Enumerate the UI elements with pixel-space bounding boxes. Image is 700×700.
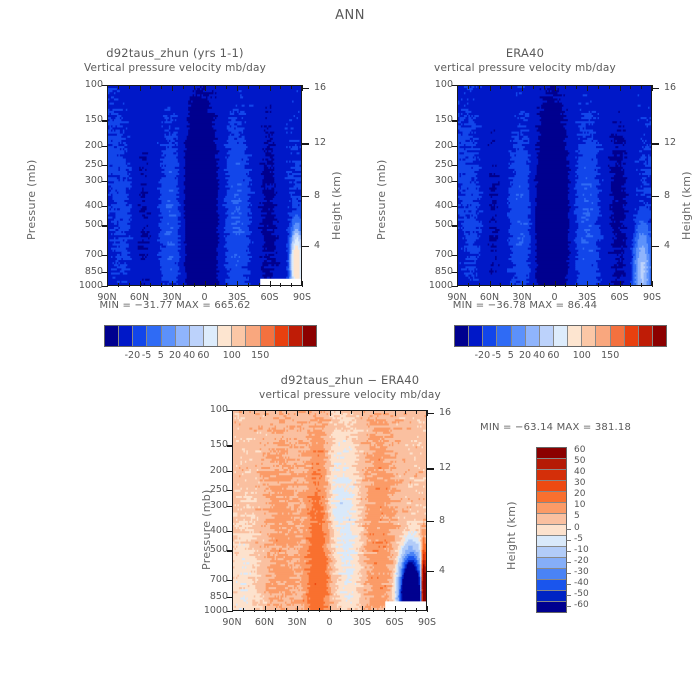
ytick-label: 400 xyxy=(61,200,103,211)
xtick xyxy=(522,85,523,91)
xtick-minor xyxy=(280,283,281,287)
colorbar-label: 10 xyxy=(574,500,585,510)
xtick xyxy=(265,606,266,612)
colorbar-swatch[interactable] xyxy=(567,326,581,346)
y2tick-label: 4 xyxy=(439,565,469,576)
panel-model-ylabel: Pressure (mb) xyxy=(25,159,38,240)
colorbar-swatch[interactable] xyxy=(610,326,624,346)
colorbar-swatch[interactable] xyxy=(203,326,217,346)
xtick xyxy=(232,606,233,612)
colorbar-swatch[interactable] xyxy=(105,326,118,346)
ytick-label: 300 xyxy=(411,175,453,186)
ytick-label: 150 xyxy=(61,114,103,125)
y2tick-label: 16 xyxy=(664,82,694,93)
xtick-minor xyxy=(373,608,374,612)
xtick xyxy=(587,85,588,91)
ytick xyxy=(102,272,108,273)
colorbar-label: -50 xyxy=(574,589,589,599)
xtick xyxy=(107,85,108,91)
ytick xyxy=(452,206,458,207)
xtick xyxy=(205,85,206,91)
colorbar-swatch[interactable] xyxy=(175,326,189,346)
xtick-minor xyxy=(194,85,195,89)
xtick-minor xyxy=(576,85,577,89)
xtick xyxy=(362,606,363,612)
xtick-minor xyxy=(351,608,352,612)
ytick xyxy=(227,445,233,446)
ytick-label: 500 xyxy=(411,219,453,230)
colorbar-swatch[interactable] xyxy=(161,326,175,346)
colorbar-tick xyxy=(566,529,571,530)
xtick-minor xyxy=(319,410,320,414)
xtick xyxy=(302,281,303,287)
colorbar-tick xyxy=(566,540,571,541)
ytick-label: 500 xyxy=(186,544,228,555)
xtick-minor xyxy=(630,283,631,287)
colorbar-label: -40 xyxy=(574,578,589,588)
ytick xyxy=(227,580,233,581)
colorbar-swatch[interactable] xyxy=(260,326,274,346)
y2tick xyxy=(427,468,434,469)
y2tick-label: 4 xyxy=(664,240,694,251)
xtick-minor xyxy=(598,283,599,287)
ytick-label: 1000 xyxy=(186,605,228,616)
xtick-minor xyxy=(351,410,352,414)
ytick-label: 200 xyxy=(411,140,453,151)
xtick xyxy=(172,281,173,287)
colorbar-label: 150 xyxy=(588,350,632,361)
xtick-minor xyxy=(259,283,260,287)
ytick-label: 300 xyxy=(186,500,228,511)
colorbar-swatch[interactable] xyxy=(595,326,609,346)
ytick-label: 200 xyxy=(61,140,103,151)
xtick-minor xyxy=(254,608,255,612)
xtick-minor xyxy=(243,608,244,612)
ytick-label: 250 xyxy=(411,159,453,170)
xtick-minor xyxy=(373,410,374,414)
y2tick xyxy=(302,143,309,144)
xtick xyxy=(457,85,458,91)
colorbar-swatch[interactable] xyxy=(217,326,231,346)
colorbar-swatch[interactable] xyxy=(537,469,566,480)
panel-model-colorbar-labels: -20-55204060100150 xyxy=(104,350,317,364)
panel-model-plot[interactable] xyxy=(107,85,302,286)
xtick-minor xyxy=(129,85,130,89)
xtick-minor xyxy=(641,283,642,287)
xtick xyxy=(232,410,233,416)
colorbar-swatch[interactable] xyxy=(496,326,510,346)
ytick-label: 200 xyxy=(186,465,228,476)
xtick-minor xyxy=(286,410,287,414)
colorbar-swatch[interactable] xyxy=(302,326,316,346)
xtick-minor xyxy=(254,410,255,414)
xtick xyxy=(140,85,141,91)
colorbar-swatch[interactable] xyxy=(537,590,566,601)
y2tick-label: 12 xyxy=(664,137,694,148)
xtick xyxy=(620,85,621,91)
ytick-label: 100 xyxy=(186,404,228,415)
xtick-minor xyxy=(468,283,469,287)
xtick-minor xyxy=(183,85,184,89)
panel-obs-title: ERA40 xyxy=(350,46,700,60)
xtick-minor xyxy=(565,283,566,287)
colorbar-swatch[interactable] xyxy=(525,326,539,346)
ytick xyxy=(102,165,108,166)
colorbar-label: 40 xyxy=(574,467,585,477)
colorbar-label: 0 xyxy=(574,523,580,533)
xtick xyxy=(237,281,238,287)
ytick-label: 300 xyxy=(61,175,103,186)
ytick xyxy=(452,120,458,121)
panel-obs-ylabel: Pressure (mb) xyxy=(375,159,388,240)
xtick xyxy=(522,281,523,287)
ytick-label: 850 xyxy=(186,591,228,602)
colorbar-swatch[interactable] xyxy=(537,448,566,458)
xtick-minor xyxy=(500,85,501,89)
xtick-minor xyxy=(275,608,276,612)
colorbar-swatch[interactable] xyxy=(652,326,666,346)
xtick xyxy=(270,85,271,91)
xtick-minor xyxy=(118,85,119,89)
ytick xyxy=(227,531,233,532)
xtick-minor xyxy=(416,410,417,414)
ytick xyxy=(452,272,458,273)
xtick-minor xyxy=(248,283,249,287)
colorbar-label: 60 xyxy=(574,445,585,455)
xtick xyxy=(302,85,303,91)
xtick-minor xyxy=(468,85,469,89)
colorbar-tick xyxy=(566,595,571,596)
panel-obs-plot[interactable] xyxy=(457,85,652,286)
xtick-minor xyxy=(340,608,341,612)
xtick xyxy=(140,281,141,287)
ytick xyxy=(452,165,458,166)
ytick-label: 250 xyxy=(61,159,103,170)
colorbar-label: 150 xyxy=(238,350,282,361)
xtick-minor xyxy=(291,283,292,287)
ytick-label: 100 xyxy=(61,79,103,90)
colorbar-label: -60 xyxy=(574,600,589,610)
colorbar-label: -20 xyxy=(574,556,589,566)
xtick-minor xyxy=(161,85,162,89)
y2tick-label: 16 xyxy=(314,82,344,93)
colorbar-swatch[interactable] xyxy=(537,513,566,524)
ytick xyxy=(102,255,108,256)
xtick-minor xyxy=(248,85,249,89)
panel-diff-y2label: Height (km) xyxy=(505,501,518,570)
xtick-minor xyxy=(194,283,195,287)
panel-model-subtitle: Vertical pressure velocity mb/day xyxy=(0,62,350,74)
panel-model-colorbar[interactable] xyxy=(104,325,317,347)
xtick xyxy=(265,410,266,416)
ytick xyxy=(452,146,458,147)
y2tick xyxy=(427,571,434,572)
colorbar-swatch[interactable] xyxy=(537,601,566,612)
xtick-minor xyxy=(641,85,642,89)
colorbar-swatch[interactable] xyxy=(468,326,482,346)
ytick-label: 850 xyxy=(61,266,103,277)
panel-diff-colorbar[interactable] xyxy=(536,447,567,613)
ytick xyxy=(102,120,108,121)
ytick-label: 850 xyxy=(411,266,453,277)
panel-model-y2label: Height (km) xyxy=(330,171,343,240)
y2tick xyxy=(427,521,434,522)
colorbar-label: 30 xyxy=(574,478,585,488)
panel-diff-title: d92taus_zhun − ERA40 xyxy=(175,373,525,387)
panel-obs-subtitle: vertical pressure velocity mb/day xyxy=(350,62,700,74)
xtick-minor xyxy=(405,608,406,612)
xtick xyxy=(555,281,556,287)
panel-model-title: d92taus_zhun (yrs 1-1) xyxy=(0,46,350,60)
xtick-minor xyxy=(479,85,480,89)
colorbar-tick xyxy=(566,606,571,607)
xtick-minor xyxy=(384,608,385,612)
colorbar-swatch[interactable] xyxy=(638,326,652,346)
xtick-minor xyxy=(340,410,341,414)
panel-diff-plot[interactable] xyxy=(232,410,427,611)
xtick-minor xyxy=(280,85,281,89)
colorbar-tick xyxy=(566,584,571,585)
xtick-minor xyxy=(384,410,385,414)
ytick-label: 150 xyxy=(186,439,228,450)
ytick-label: 500 xyxy=(61,219,103,230)
ytick xyxy=(102,225,108,226)
colorbar-label: -30 xyxy=(574,567,589,577)
xtick-minor xyxy=(150,283,151,287)
xtick-minor xyxy=(129,283,130,287)
colorbar-swatch[interactable] xyxy=(146,326,160,346)
ytick-label: 700 xyxy=(411,249,453,260)
xtick xyxy=(490,281,491,287)
ytick-label: 700 xyxy=(61,249,103,260)
colorbar-swatch[interactable] xyxy=(539,326,553,346)
colorbar-label: -5 xyxy=(574,534,583,544)
xtick-minor xyxy=(319,608,320,612)
ytick xyxy=(452,255,458,256)
xtick xyxy=(652,85,653,91)
xtick-minor xyxy=(630,85,631,89)
xtick-minor xyxy=(511,85,512,89)
colorbar-swatch[interactable] xyxy=(624,326,638,346)
ytick xyxy=(452,181,458,182)
xtick xyxy=(652,281,653,287)
ytick xyxy=(227,550,233,551)
xtick-minor xyxy=(226,85,227,89)
xtick-minor xyxy=(286,608,287,612)
ytick xyxy=(102,146,108,147)
colorbar-swatch[interactable] xyxy=(537,546,566,557)
colorbar-tick xyxy=(566,562,571,563)
y2tick-label: 12 xyxy=(314,137,344,148)
xtick-minor xyxy=(215,85,216,89)
xtick-label: 90S xyxy=(630,292,674,303)
xtick xyxy=(297,410,298,416)
colorbar-swatch[interactable] xyxy=(288,326,302,346)
y2tick-label: 8 xyxy=(664,190,694,201)
y2tick-label: 4 xyxy=(314,240,344,251)
xtick xyxy=(395,606,396,612)
xtick xyxy=(237,85,238,91)
panel-diff-subtitle: vertical pressure velocity mb/day xyxy=(175,389,525,401)
xtick xyxy=(587,281,588,287)
colorbar-swatch[interactable] xyxy=(231,326,245,346)
ytick-label: 400 xyxy=(186,525,228,536)
xtick-minor xyxy=(308,608,309,612)
colorbar-swatch[interactable] xyxy=(482,326,496,346)
colorbar-swatch[interactable] xyxy=(245,326,259,346)
ytick xyxy=(227,597,233,598)
ytick xyxy=(227,490,233,491)
y2tick-label: 12 xyxy=(439,462,469,473)
xtick xyxy=(427,606,428,612)
xtick xyxy=(107,281,108,287)
colorbar-swatch[interactable] xyxy=(537,502,566,513)
ytick xyxy=(227,506,233,507)
panel-obs: ERA40 vertical pressure velocity mb/day … xyxy=(350,0,700,380)
xtick-minor xyxy=(226,283,227,287)
xtick-minor xyxy=(243,410,244,414)
colorbar-tick xyxy=(566,551,571,552)
y2tick xyxy=(302,196,309,197)
colorbar-label: 50 xyxy=(574,456,585,466)
xtick xyxy=(555,85,556,91)
colorbar-swatch[interactable] xyxy=(537,524,566,535)
ytick-label: 150 xyxy=(411,114,453,125)
y2tick xyxy=(302,246,309,247)
xtick xyxy=(172,85,173,91)
colorbar-swatch[interactable] xyxy=(537,480,566,491)
y2tick xyxy=(652,196,659,197)
colorbar-swatch[interactable] xyxy=(274,326,288,346)
colorbar-swatch[interactable] xyxy=(189,326,203,346)
ytick-label: 400 xyxy=(411,200,453,211)
y2tick xyxy=(652,143,659,144)
xtick xyxy=(620,281,621,287)
xtick-minor xyxy=(150,85,151,89)
ytick xyxy=(102,206,108,207)
colorbar-swatch[interactable] xyxy=(537,535,566,546)
xtick-minor xyxy=(533,283,534,287)
xtick-label: 90S xyxy=(280,292,324,303)
panel-diff-colorbar-labels: 60504030201050-5-10-20-30-40-50-60 xyxy=(570,440,630,625)
y2tick xyxy=(652,246,659,247)
xtick-minor xyxy=(118,283,119,287)
colorbar-swatch[interactable] xyxy=(537,491,566,502)
colorbar-swatch[interactable] xyxy=(553,326,567,346)
ytick xyxy=(102,181,108,182)
xtick-minor xyxy=(215,283,216,287)
xtick-minor xyxy=(161,283,162,287)
colorbar-label: -10 xyxy=(574,545,589,555)
ytick-label: 1000 xyxy=(61,280,103,291)
xtick-minor xyxy=(609,283,610,287)
xtick xyxy=(395,410,396,416)
xtick xyxy=(330,410,331,416)
panel-diff: d92taus_zhun − ERA40 vertical pressure v… xyxy=(175,370,525,660)
xtick-minor xyxy=(479,283,480,287)
xtick xyxy=(330,606,331,612)
panel-obs-colorbar[interactable] xyxy=(454,325,667,347)
colorbar-swatch[interactable] xyxy=(132,326,146,346)
xtick-minor xyxy=(291,85,292,89)
ytick xyxy=(452,225,458,226)
xtick-minor xyxy=(416,608,417,612)
xtick-minor xyxy=(275,410,276,414)
ytick xyxy=(227,471,233,472)
xtick-minor xyxy=(500,283,501,287)
xtick-minor xyxy=(598,85,599,89)
colorbar-swatch[interactable] xyxy=(455,326,468,346)
xtick-minor xyxy=(259,85,260,89)
y2tick-label: 8 xyxy=(439,515,469,526)
xtick-minor xyxy=(183,283,184,287)
xtick-minor xyxy=(576,283,577,287)
panel-model: d92taus_zhun (yrs 1-1) Vertical pressure… xyxy=(0,0,350,380)
xtick xyxy=(490,85,491,91)
colorbar-tick xyxy=(566,573,571,574)
colorbar-swatch[interactable] xyxy=(511,326,525,346)
xtick-minor xyxy=(405,410,406,414)
colorbar-label: 5 xyxy=(574,511,580,521)
xtick-label: 90S xyxy=(405,617,449,628)
xtick-minor xyxy=(544,85,545,89)
ytick-label: 250 xyxy=(186,484,228,495)
xtick xyxy=(297,606,298,612)
colorbar-label: 20 xyxy=(574,489,585,499)
panel-obs-y2label: Height (km) xyxy=(680,171,693,240)
colorbar-swatch[interactable] xyxy=(537,458,566,469)
ytick-label: 1000 xyxy=(411,280,453,291)
xtick-minor xyxy=(544,283,545,287)
xtick-minor xyxy=(511,283,512,287)
y2tick-label: 8 xyxy=(314,190,344,201)
xtick xyxy=(362,410,363,416)
xtick xyxy=(205,281,206,287)
panel-obs-colorbar-labels: -20-55204060100150 xyxy=(454,350,667,364)
colorbar-swatch[interactable] xyxy=(118,326,132,346)
xtick-minor xyxy=(609,85,610,89)
xtick-minor xyxy=(533,85,534,89)
xtick-minor xyxy=(565,85,566,89)
colorbar-swatch[interactable] xyxy=(537,568,566,579)
ytick-label: 100 xyxy=(411,79,453,90)
xtick xyxy=(457,281,458,287)
y2tick-label: 16 xyxy=(439,407,469,418)
xtick xyxy=(270,281,271,287)
panel-diff-minmax: MIN = −63.14 MAX = 381.18 xyxy=(480,422,675,433)
ytick-label: 700 xyxy=(186,574,228,585)
xtick-minor xyxy=(308,410,309,414)
colorbar-swatch[interactable] xyxy=(537,579,566,590)
xtick xyxy=(427,410,428,416)
colorbar-swatch[interactable] xyxy=(537,557,566,568)
colorbar-swatch[interactable] xyxy=(581,326,595,346)
